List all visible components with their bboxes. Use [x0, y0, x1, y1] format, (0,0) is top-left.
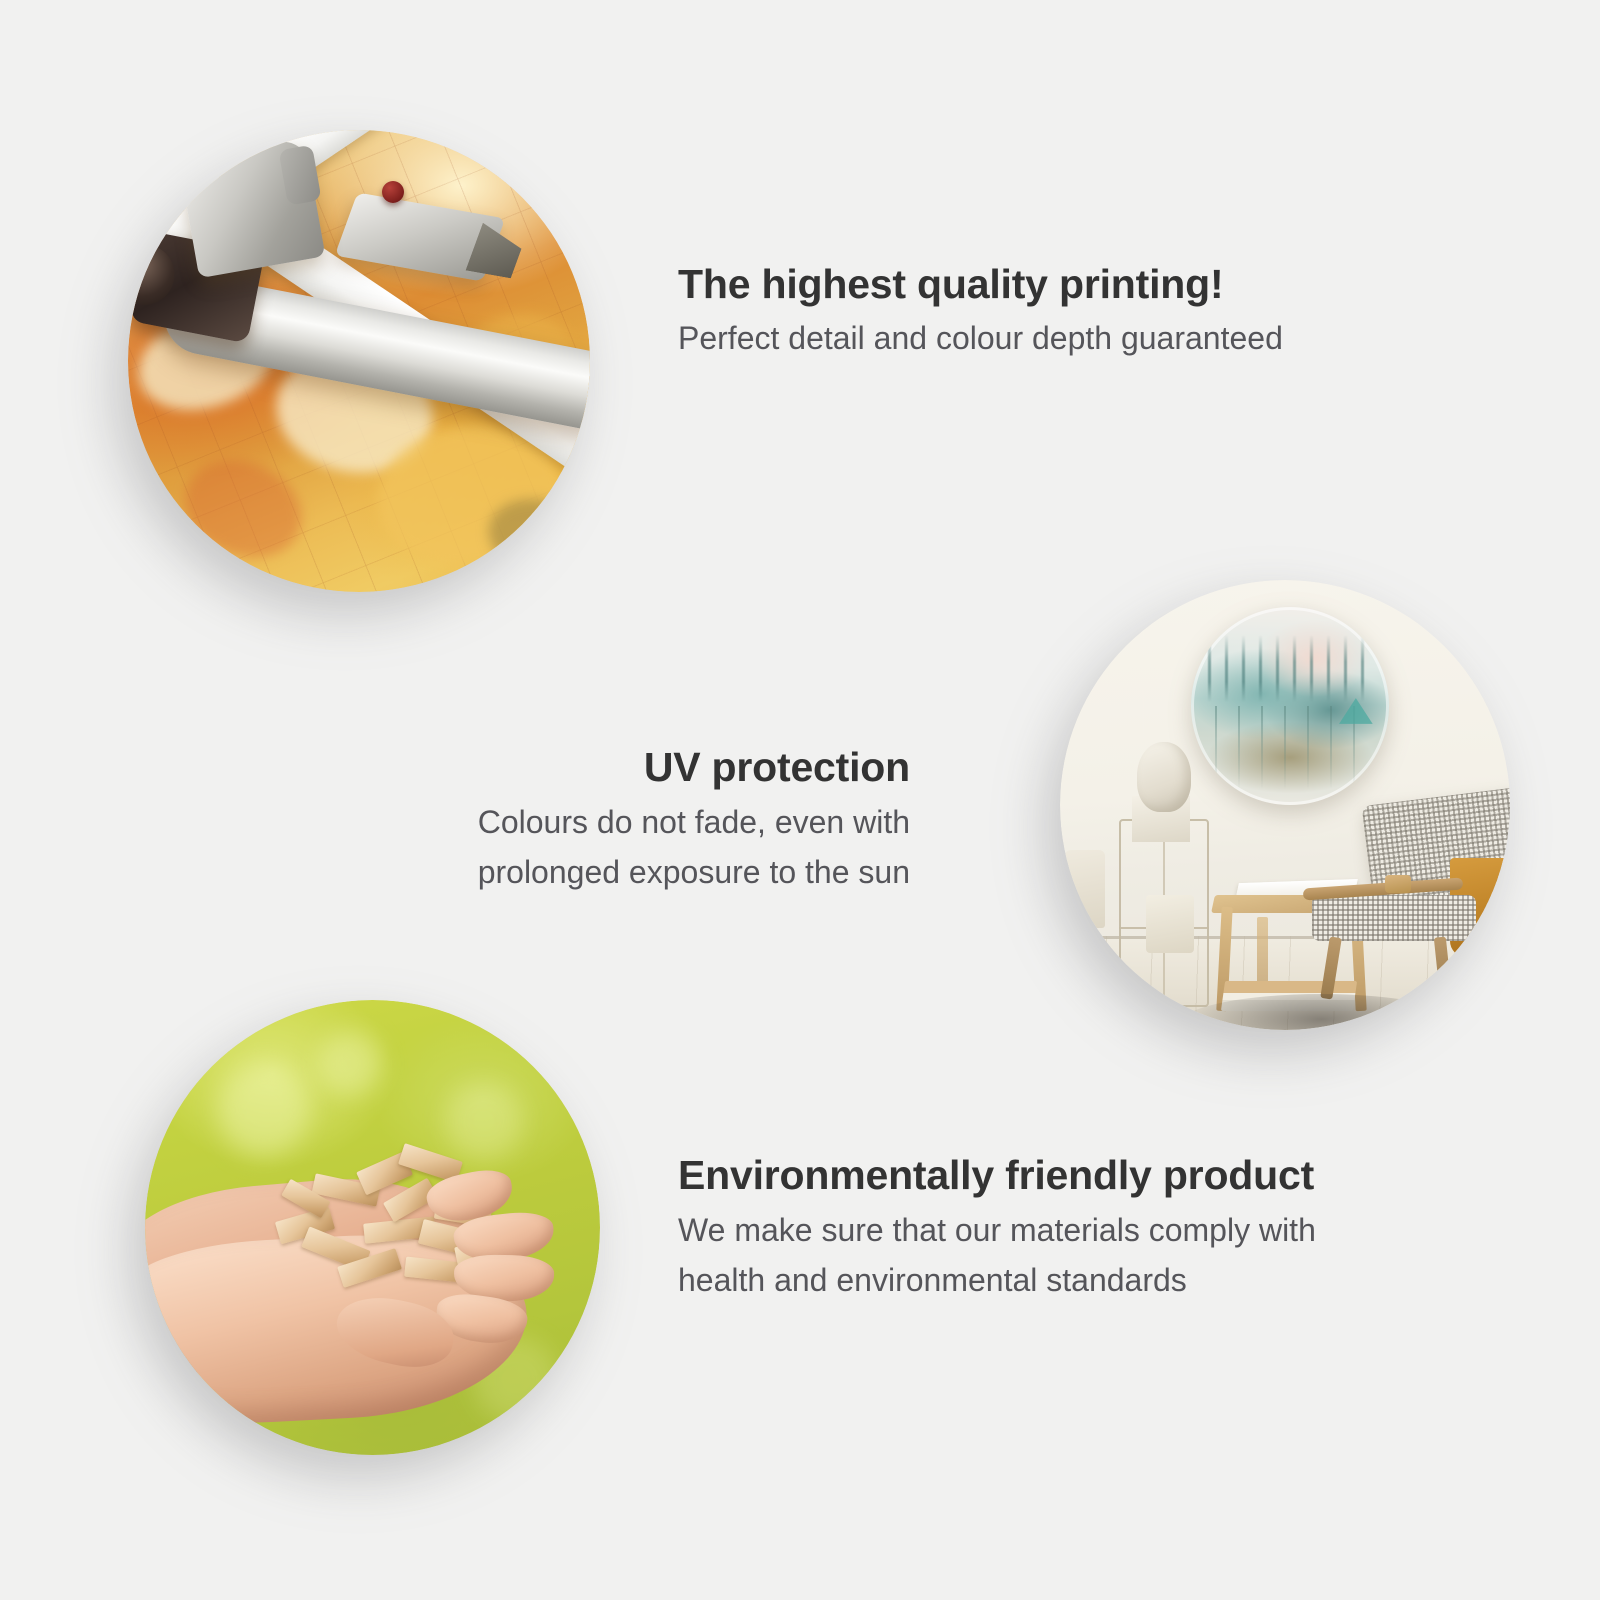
- armchair-seat-cushion: [1312, 895, 1476, 941]
- red-knob-icon: [382, 181, 404, 203]
- feature-subtitle-printing: Perfect detail and colour depth guarante…: [678, 314, 1283, 362]
- circle-clip-1: [128, 130, 590, 592]
- armchair: [1303, 796, 1510, 1003]
- interior-round-canvas-photo: [1060, 580, 1510, 1030]
- feature-text-highest-quality-printing: The highest quality printing! Perfect de…: [678, 258, 1283, 362]
- feature-title-environmentally-friendly: Environmentally friendly product: [678, 1148, 1458, 1202]
- round-canvas-artwork: [1191, 607, 1389, 805]
- ceramic-vase: [1065, 850, 1105, 928]
- feature-subtitle-uv-protection-line-2: prolonged exposure to the sun: [300, 850, 910, 894]
- plaster-bust-sculpture: [1137, 742, 1191, 812]
- bokeh-highlight-2: [318, 1032, 382, 1096]
- feature-subtitle-environmentally-friendly-line-2: health and environmental standards: [678, 1258, 1458, 1302]
- feature-subtitle-uv-protection-line-1: Colours do not fade, even with: [300, 800, 910, 844]
- feature-text-uv-protection: UV protection Colours do not fade, even …: [300, 740, 910, 894]
- circle-clip-2: [1060, 580, 1510, 1030]
- artwork-forest-treeline: [1202, 635, 1376, 702]
- world-map-print-background: [128, 130, 590, 592]
- wooden-cup: [1385, 875, 1411, 893]
- feature-text-environmentally-friendly: Environmentally friendly product We make…: [678, 1148, 1458, 1302]
- candle-on-plinth: [1146, 895, 1194, 953]
- armchair-leg-back: [1434, 936, 1452, 999]
- printer-clamp-arm: [179, 138, 326, 278]
- hands-wood-chips-photo: [145, 1000, 600, 1455]
- feature-title-uv-protection: UV protection: [300, 740, 910, 794]
- feature-infographic-page: The highest quality printing! Perfect de…: [0, 0, 1600, 1600]
- bokeh-highlight-1: [218, 1064, 310, 1156]
- feature-subtitle-environmentally-friendly-line-1: We make sure that our materials comply w…: [678, 1208, 1458, 1252]
- armchair-leg-front: [1320, 936, 1342, 999]
- feature-title-printing: The highest quality printing!: [678, 258, 1283, 310]
- printing-press-world-map-photo: [128, 130, 590, 592]
- interior-room-background: [1060, 580, 1510, 1030]
- circle-clip-3: [145, 1000, 600, 1455]
- grass-background: [145, 1000, 600, 1455]
